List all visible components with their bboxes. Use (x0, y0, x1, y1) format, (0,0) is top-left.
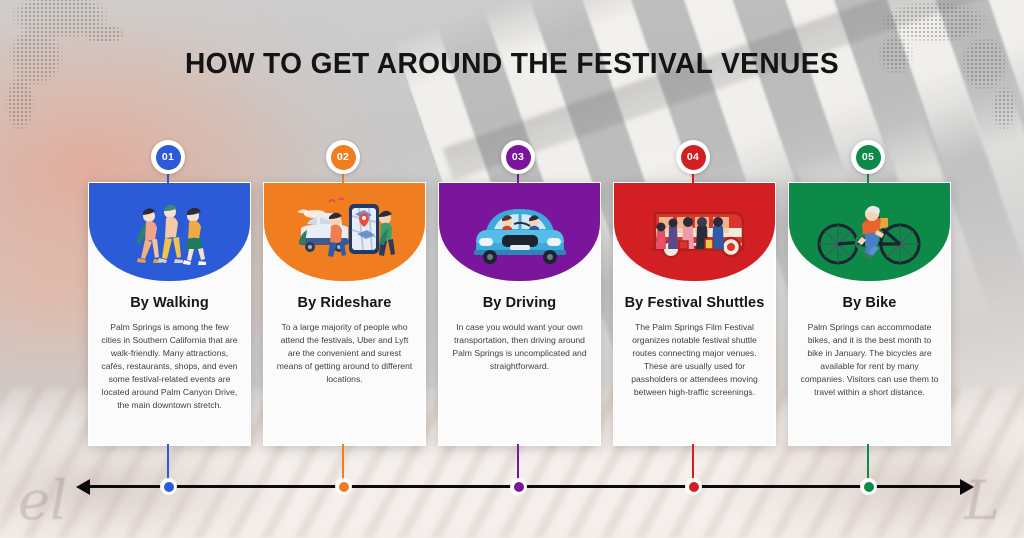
card-header-04 (614, 183, 775, 281)
shuttle-bus-icon (614, 189, 775, 275)
step-badge-number-02: 02 (331, 145, 356, 170)
infographic-canvas: el L HOW TO GET AROUND THE FESTIVAL VENU… (0, 0, 1024, 538)
card-connector-05 (867, 444, 869, 484)
timeline-node-dot-05 (864, 482, 874, 492)
timeline-node-dot-03 (514, 482, 524, 492)
card-header-01 (89, 183, 250, 281)
timeline-node-05[interactable] (861, 479, 876, 494)
card-header-02 (264, 183, 425, 281)
step-badge-03[interactable]: 03 (501, 140, 535, 174)
car-and-map-phone-icon (264, 189, 425, 275)
timeline-node-dot-02 (339, 482, 349, 492)
timeline-node-dot-01 (164, 482, 174, 492)
timeline-arrow-left-icon (76, 479, 90, 495)
people-walking-icon (89, 189, 250, 275)
step-badge-number-04: 04 (681, 145, 706, 170)
step-badge-04[interactable]: 04 (676, 140, 710, 174)
card-title-04: By Festival Shuttles (622, 295, 767, 312)
card-body-04: The Palm Springs Film Festival organizes… (625, 321, 764, 399)
car-front-icon (439, 189, 600, 275)
card-body-02: To a large majority of people who attend… (275, 321, 414, 386)
step-badge-02[interactable]: 02 (326, 140, 360, 174)
card-body-05: Palm Springs can accommodate bikes, and … (800, 321, 939, 399)
step-badge-number-01: 01 (156, 145, 181, 170)
card-title-03: By Driving (447, 295, 592, 312)
timeline-node-03[interactable] (511, 479, 526, 494)
card-header-05 (789, 183, 950, 281)
info-card-04[interactable]: By Festival ShuttlesThe Palm Springs Fil… (613, 182, 776, 446)
timeline-node-dot-04 (689, 482, 699, 492)
decorative-script-left: el (18, 469, 67, 532)
timeline-node-02[interactable] (336, 479, 351, 494)
info-card-05[interactable]: By BikePalm Springs can accommodate bike… (788, 182, 951, 446)
step-badge-05[interactable]: 05 (851, 140, 885, 174)
timeline-arrow-right-icon (960, 479, 974, 495)
timeline-node-01[interactable] (161, 479, 176, 494)
card-connector-01 (167, 444, 169, 484)
card-connector-02 (342, 444, 344, 484)
page-title: HOW TO GET AROUND THE FESTIVAL VENUES (15, 48, 1008, 81)
card-title-05: By Bike (797, 295, 942, 312)
info-card-02[interactable]: By RideshareTo a large majority of peopl… (263, 182, 426, 446)
info-card-01[interactable]: By WalkingPalm Springs is among the few … (88, 182, 251, 446)
card-title-02: By Rideshare (272, 295, 417, 312)
card-connector-03 (517, 444, 519, 484)
card-connector-04 (692, 444, 694, 484)
card-body-03: In case you would want your own transpor… (450, 321, 589, 373)
card-title-01: By Walking (97, 295, 242, 312)
card-header-03 (439, 183, 600, 281)
cyclist-icon (789, 189, 950, 275)
step-badge-number-03: 03 (506, 145, 531, 170)
info-card-03[interactable]: By DrivingIn case you would want your ow… (438, 182, 601, 446)
step-badge-01[interactable]: 01 (151, 140, 185, 174)
card-row: By WalkingPalm Springs is among the few … (0, 140, 1024, 460)
step-badge-number-05: 05 (856, 145, 881, 170)
card-body-01: Palm Springs is among the few cities in … (100, 321, 239, 412)
timeline-node-04[interactable] (686, 479, 701, 494)
